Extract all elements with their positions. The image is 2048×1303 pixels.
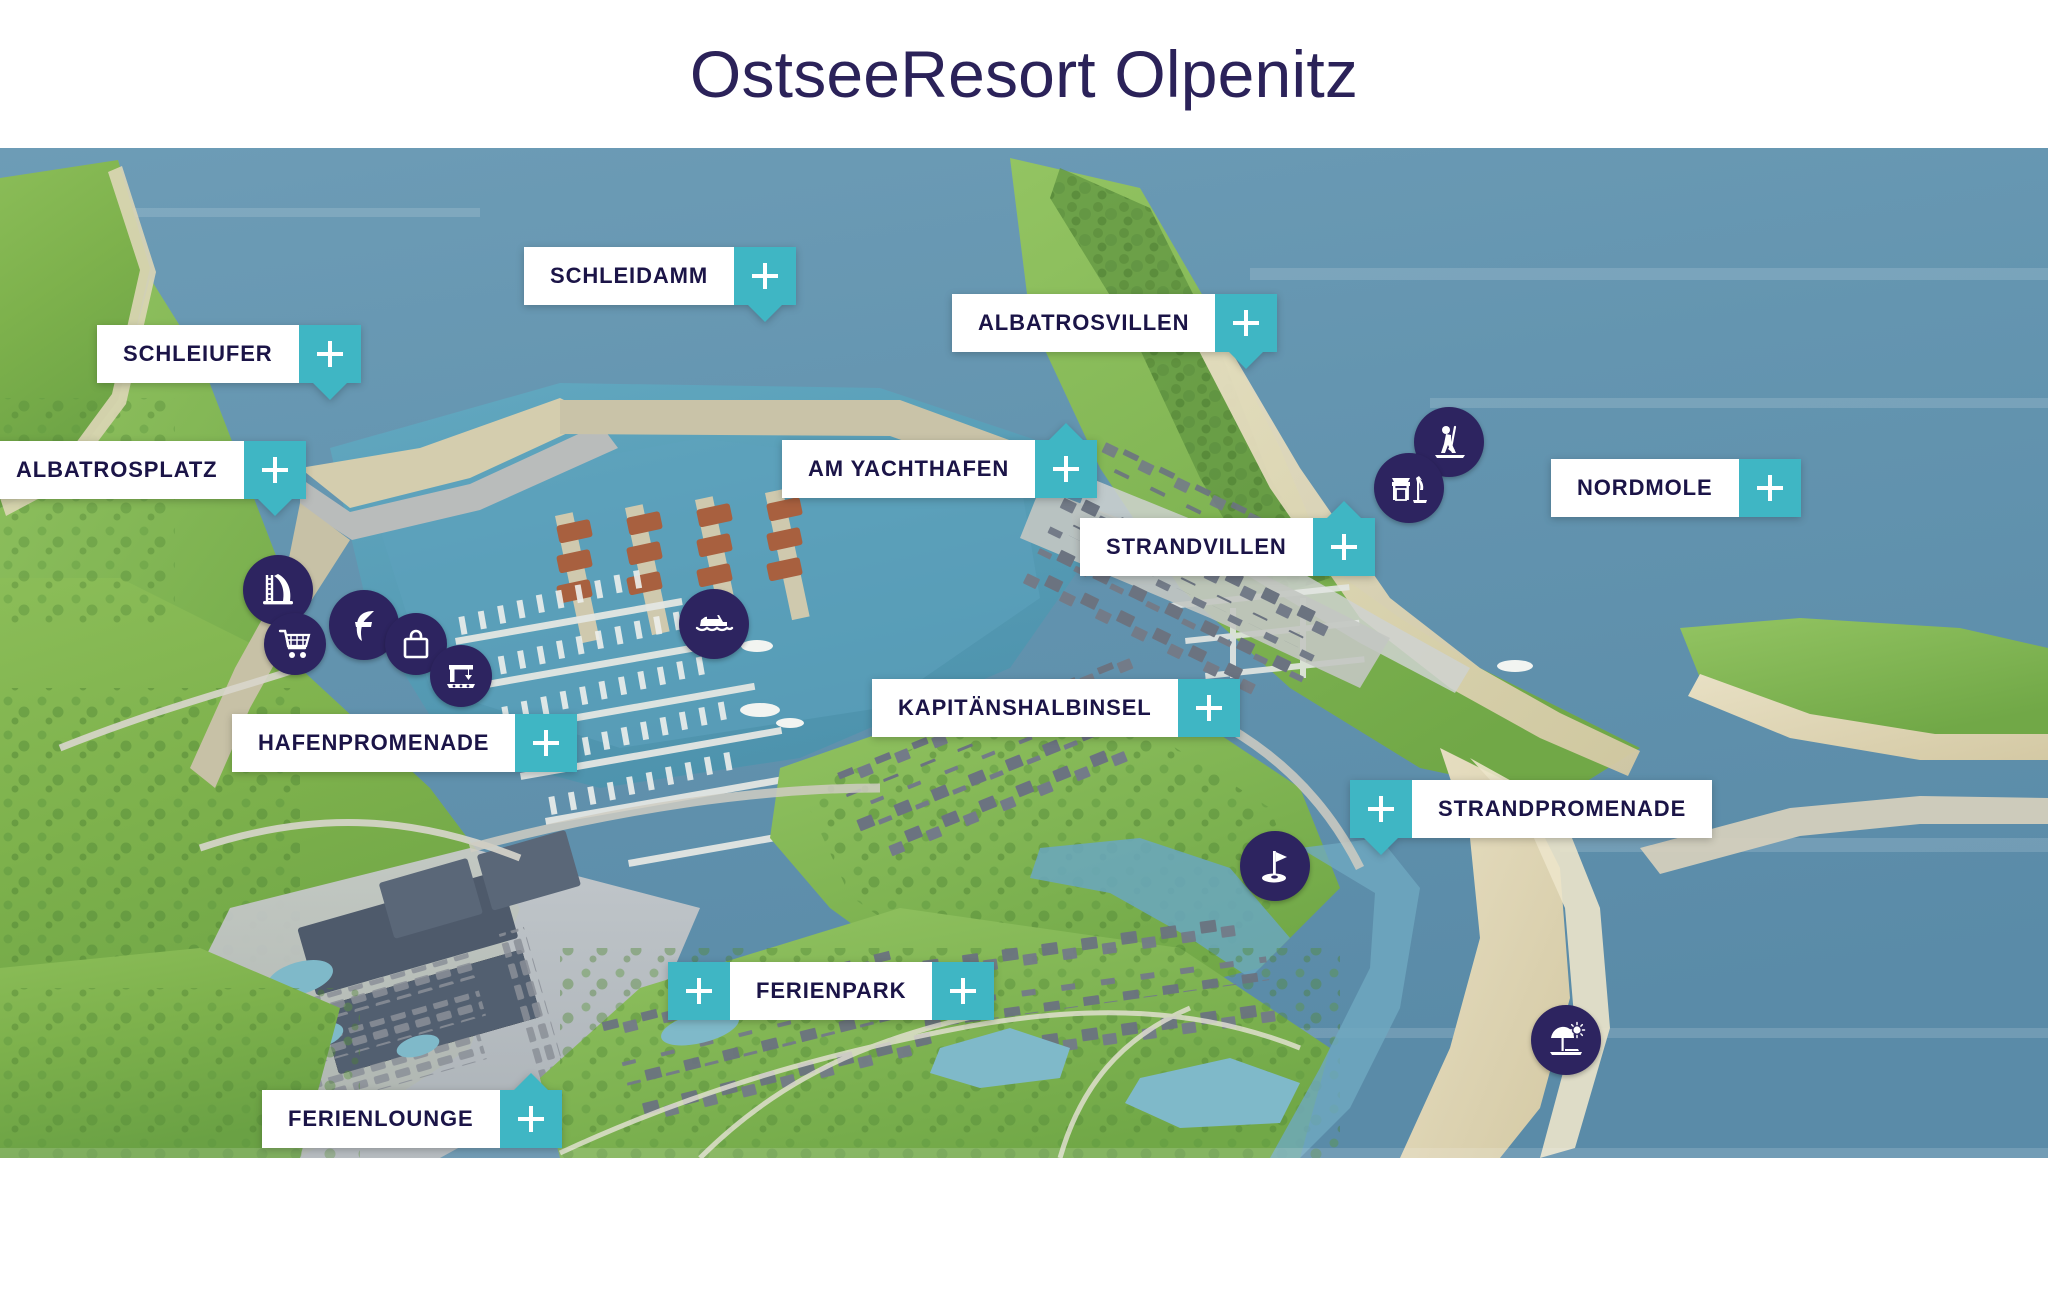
crane-icon-marker[interactable] <box>430 645 492 707</box>
beach-umbrella-icon <box>1546 1020 1586 1060</box>
hotspot-albatrosplatz[interactable]: ALBATROSPLATZ <box>0 441 306 499</box>
plus-icon[interactable] <box>244 441 306 499</box>
plus-icon-left[interactable] <box>668 962 730 1020</box>
hotspot-kapitaenshalbinsel[interactable]: KAPITÄNSHALBINSEL <box>872 679 1240 737</box>
hotspot-label: KAPITÄNSHALBINSEL <box>872 679 1178 737</box>
motorboat-icon-marker[interactable] <box>679 589 749 659</box>
plus-icon[interactable] <box>1178 679 1240 737</box>
hotspot-label: FERIENPARK <box>730 962 932 1020</box>
hotspot-ferienlounge[interactable]: FERIENLOUNGE <box>262 1090 562 1148</box>
beach-market-icon <box>1389 468 1429 508</box>
hotspot-am-yachthafen[interactable]: AM YACHTHAFEN <box>782 440 1097 498</box>
crane-icon <box>444 659 478 693</box>
plus-icon-right[interactable] <box>932 962 994 1020</box>
page-bottom-spacer <box>0 1158 2048 1303</box>
hotspot-label: ALBATROSPLATZ <box>0 441 244 499</box>
paddleboard-icon <box>1429 422 1469 462</box>
plus-icon[interactable] <box>1215 294 1277 352</box>
beach-umbrella-icon-marker[interactable] <box>1531 1005 1601 1075</box>
hotspot-label: HAFENPROMENADE <box>232 714 515 772</box>
hotspot-label: AM YACHTHAFEN <box>782 440 1035 498</box>
hotspot-schleidamm[interactable]: SCHLEIDAMM <box>524 247 796 305</box>
plus-icon[interactable] <box>1350 780 1412 838</box>
hotspot-label: FERIENLOUNGE <box>262 1090 500 1148</box>
hotspot-albatrosvillen[interactable]: ALBATROSVILLEN <box>952 294 1277 352</box>
golf-icon-marker[interactable] <box>1240 831 1310 901</box>
f-logo-icon <box>344 605 384 645</box>
hotspot-label: SCHLEIDAMM <box>524 247 734 305</box>
plus-icon[interactable] <box>500 1090 562 1148</box>
plus-icon[interactable] <box>1313 518 1375 576</box>
resort-map-page: OstseeResort Olpenitz <box>0 0 2048 1303</box>
hotspot-label: ALBATROSVILLEN <box>952 294 1215 352</box>
hotspot-schleiufer[interactable]: SCHLEIUFER <box>97 325 361 383</box>
hotspot-label: STRANDVILLEN <box>1080 518 1313 576</box>
shopping-cart-icon-marker[interactable] <box>264 613 326 675</box>
page-title: OstseeResort Olpenitz <box>690 41 1358 107</box>
plus-icon[interactable] <box>299 325 361 383</box>
hotspot-label: STRANDPROMENADE <box>1412 780 1712 838</box>
hotspot-strandvillen[interactable]: STRANDVILLEN <box>1080 518 1375 576</box>
shopping-cart-icon <box>278 627 312 661</box>
hotspot-label: SCHLEIUFER <box>97 325 299 383</box>
hotspot-nordmole[interactable]: NORDMOLE <box>1551 459 1801 517</box>
plus-icon[interactable] <box>1739 459 1801 517</box>
golf-icon <box>1255 846 1295 886</box>
shopping-bag-icon <box>400 628 432 660</box>
title-bar: OstseeResort Olpenitz <box>0 0 2048 148</box>
hotspot-hafenpromenade[interactable]: HAFENPROMENADE <box>232 714 577 772</box>
water-slide-icon <box>259 571 297 609</box>
plus-icon[interactable] <box>1035 440 1097 498</box>
plus-icon[interactable] <box>515 714 577 772</box>
hotspot-ferienpark[interactable]: FERIENPARK <box>668 962 994 1020</box>
hotspot-label: NORDMOLE <box>1551 459 1739 517</box>
motorboat-icon <box>693 603 735 645</box>
beach-market-icon-marker[interactable] <box>1374 453 1444 523</box>
plus-icon[interactable] <box>734 247 796 305</box>
hotspot-strandpromenade[interactable]: STRANDPROMENADE <box>1350 780 1712 838</box>
